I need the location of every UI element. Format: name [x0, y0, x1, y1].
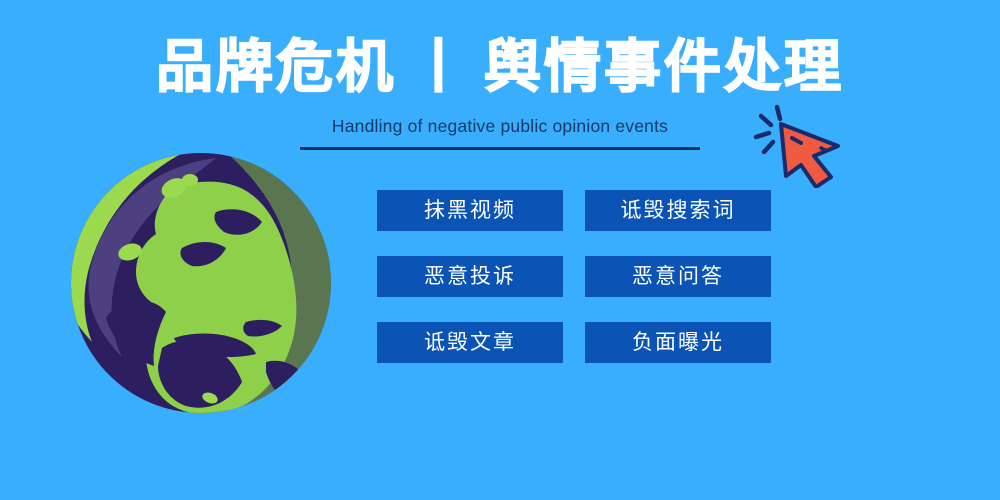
globe-icon [70, 152, 332, 414]
tag-button-malicious-qa[interactable]: 恶意问答 [585, 256, 771, 297]
page-title: 品牌危机丨舆情事件处理 [0, 34, 1000, 100]
title-divider [300, 147, 700, 150]
globe-illustration [70, 152, 332, 414]
click-cursor-illustration [752, 104, 852, 188]
tag-button-negative-exposure[interactable]: 负面曝光 [585, 322, 771, 363]
tag-button-smear-video[interactable]: 抹黑视频 [377, 190, 563, 231]
cursor-arrow-icon [781, 124, 838, 187]
globe-indian-ocean [266, 361, 307, 410]
page-title-separator: 丨 [396, 34, 484, 100]
page-title-part-1: 品牌危机 [156, 34, 396, 100]
cursor-detail-line-2-icon [821, 148, 825, 150]
tag-button-malicious-complaint[interactable]: 恶意投诉 [377, 256, 563, 297]
tag-button-grid: 抹黑视频 诋毁搜索词 恶意投诉 恶意问答 诋毁文章 负面曝光 [377, 190, 775, 363]
poster-banner: 品牌危机丨舆情事件处理 Handling of negative public … [0, 0, 1000, 500]
tag-button-defamatory-search-term[interactable]: 诋毁搜索词 [585, 190, 771, 231]
tag-button-defamatory-article[interactable]: 诋毁文章 [377, 322, 563, 363]
cursor-click-burst-icon [756, 107, 780, 152]
page-title-part-2: 舆情事件处理 [484, 34, 844, 100]
globe-arctic-island [182, 174, 198, 186]
cursor-icon [752, 104, 852, 188]
